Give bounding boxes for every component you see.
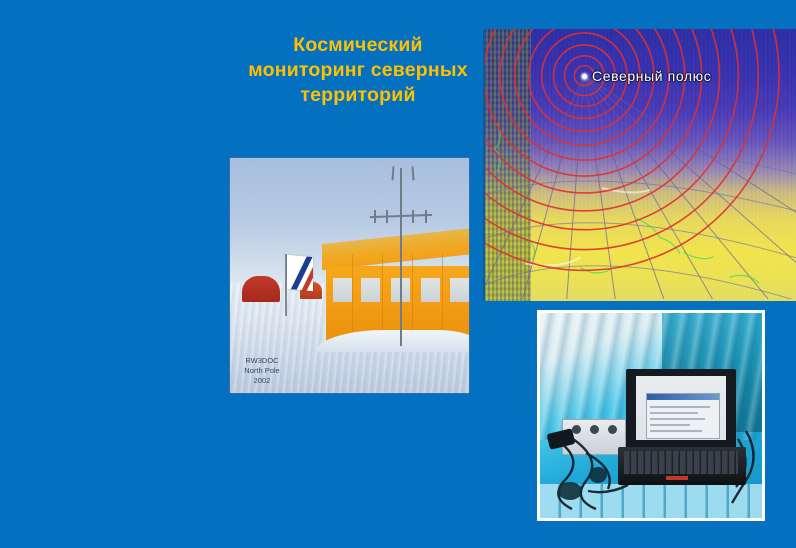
yagi-element xyxy=(386,210,388,223)
presentation-slide: Космический мониторинг северных территор… xyxy=(0,0,796,548)
caption-year: 2002 xyxy=(236,376,288,386)
yagi-element xyxy=(425,210,427,223)
satellite-polar-map-image: Северный полюс xyxy=(483,29,796,301)
page-title: Космический мониторинг северных территор… xyxy=(218,33,498,108)
tent-window xyxy=(450,278,469,302)
caption-location: North Pole xyxy=(236,366,288,376)
camp-canvas: RW3DOC North Pole 2002 xyxy=(230,158,469,393)
laptop-screen-window xyxy=(646,393,720,439)
window-content-row xyxy=(650,418,705,420)
tent-window xyxy=(333,278,352,302)
title-line-1: Космический xyxy=(218,33,498,58)
photo-caption: RW3DOC North Pole 2002 xyxy=(236,356,288,386)
window-content-row xyxy=(650,406,710,408)
title-line-3: территорий xyxy=(218,83,498,108)
expedition-flag xyxy=(287,255,313,291)
antenna-mast xyxy=(400,168,402,346)
yagi-element xyxy=(412,210,414,223)
north-pole-label: Северный полюс xyxy=(592,68,711,84)
title-line-2: мониторинг северных xyxy=(218,58,498,83)
map-canvas: Северный полюс xyxy=(485,29,796,301)
north-pole-camp-image: RW3DOC North Pole 2002 xyxy=(229,157,470,394)
window-title-bar xyxy=(647,394,719,400)
window-content-row xyxy=(650,412,698,414)
tent-window xyxy=(361,278,380,302)
laptop-indicator-strip xyxy=(666,476,688,480)
field-radio-station-image xyxy=(537,310,765,521)
tent-window xyxy=(421,278,440,302)
window-content-row xyxy=(650,430,702,432)
antenna-mast-top xyxy=(391,166,414,180)
red-dome-tent xyxy=(242,276,280,302)
lab-canvas xyxy=(540,313,762,518)
laptop-keyboard xyxy=(624,451,738,474)
yagi-element xyxy=(374,210,376,223)
caption-callsign: RW3DOC xyxy=(236,356,288,366)
north-pole-marker-dot xyxy=(582,74,587,79)
window-content-row xyxy=(650,424,690,426)
